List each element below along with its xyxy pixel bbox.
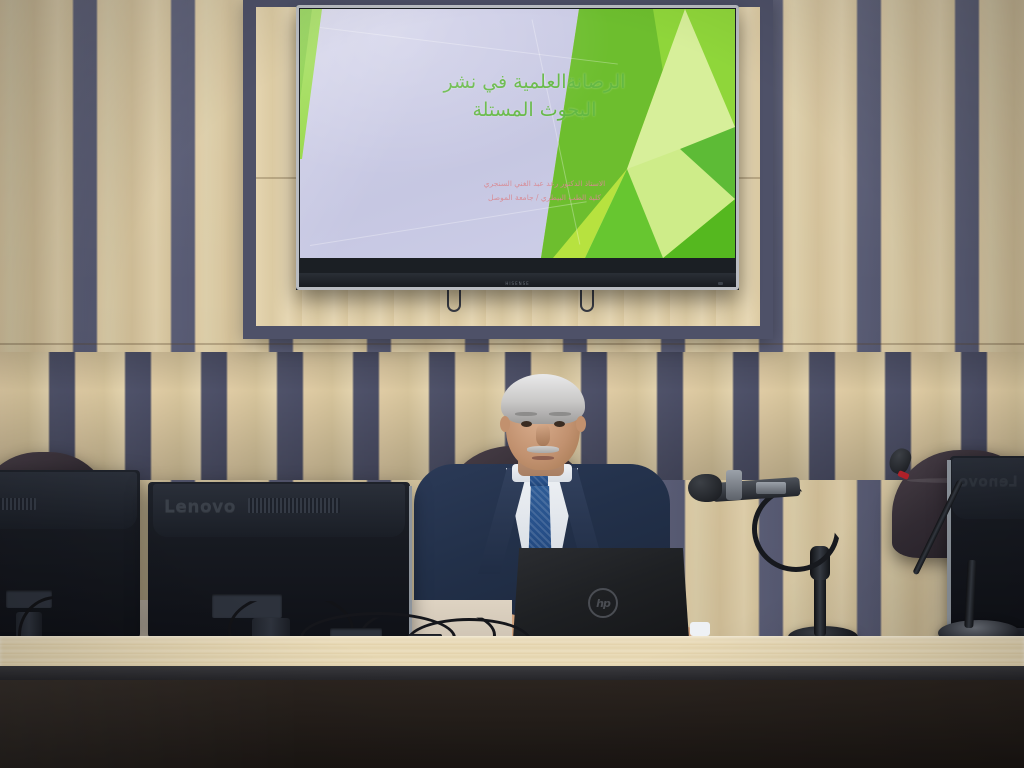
person-hair — [501, 374, 585, 424]
microphone-center-band — [756, 482, 786, 494]
microphone-center-windscreen — [688, 474, 722, 502]
tv-cable-right — [580, 288, 594, 312]
slide-subtitle: الاستاذ الدكتور رعد عبد الغني السنجري كل… — [300, 177, 735, 205]
person-ear-right — [576, 416, 586, 432]
person-cuff-right — [690, 622, 710, 636]
tv-screen: الرصانةالعلمية في نشر البحوث المستلة الا… — [300, 9, 735, 258]
tv-brand-logo: HISENSE — [505, 281, 529, 286]
monitor-left-vent — [248, 498, 340, 513]
person-nose — [536, 424, 550, 446]
slide-subtitle-line-2: كلية الطب البيطري / جامعة الموصل — [440, 191, 649, 205]
slide-title: الرصانةالعلمية في نشر البحوث المستلة — [300, 69, 735, 124]
slide-accent-left — [300, 9, 340, 258]
monitor-left-edge — [409, 486, 412, 634]
person-eye-right — [554, 421, 565, 427]
slide-accent-right — [535, 9, 735, 258]
slide-title-line-2: البحوث المستلة — [420, 97, 649, 125]
monitor-right-edge — [947, 460, 951, 630]
desk-surface — [0, 636, 1024, 670]
desk-front-panel — [0, 680, 1024, 768]
person-eyebrow-right — [549, 412, 571, 416]
monitor-right-brand-logo: Lenovo — [958, 474, 1018, 490]
presentation-slide: الرصانةالعلمية في نشر البحوث المستلة الا… — [300, 9, 735, 258]
monitor-far-left-vent — [0, 498, 36, 510]
tv-power-led — [718, 282, 723, 285]
monitor-left-brand-logo: Lenovo — [164, 497, 236, 517]
slide-subtitle-line-1: الاستاذ الدكتور رعد عبد الغني السنجري — [440, 177, 649, 191]
person-mouth — [532, 456, 554, 460]
hp-logo-icon: hp — [588, 588, 618, 618]
conference-desk — [0, 636, 1024, 768]
conference-room-photo: الرصانةالعلمية في نشر البحوث المستلة الا… — [0, 0, 1024, 768]
person-eye-left — [521, 421, 532, 427]
slide-title-line-1: الرصانةالعلمية في نشر — [420, 69, 649, 97]
person-eyebrow-left — [515, 412, 537, 416]
wall-mounted-tv[interactable]: الرصانةالعلمية في نشر البحوث المستلة الا… — [296, 5, 739, 290]
person-moustache — [527, 446, 559, 453]
microphone-center-clip — [726, 470, 742, 500]
person-ear-left — [500, 416, 510, 432]
tv-cable-left — [447, 288, 461, 312]
